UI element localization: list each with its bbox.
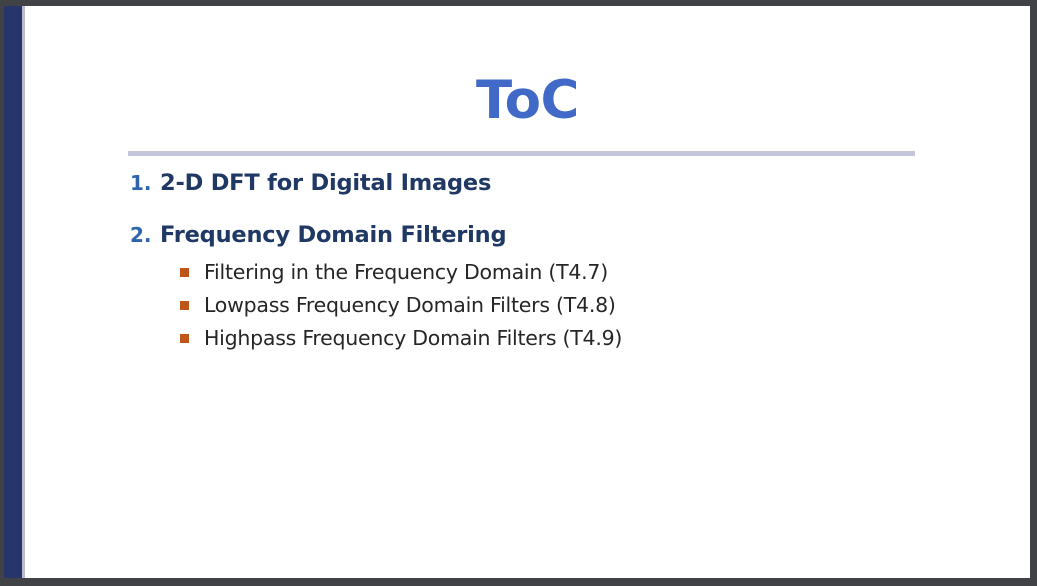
slide-content-area: ToC 1. 2-D DFT for Digital Images 2. Fre… [25,6,1030,578]
toc-number-1: 1. [130,171,160,197]
toc-heading-label-2: Frequency Domain Filtering [160,221,506,250]
toc-number-2: 2. [130,223,160,249]
slide-border-bottom [0,578,1037,586]
list-item[interactable]: Lowpass Frequency Domain Filters (T4.8) [25,289,1030,322]
square-bullet-icon [180,301,189,310]
square-bullet-icon [180,334,189,343]
toc-sublist-2: Filtering in the Frequency Domain (T4.7)… [25,256,1030,355]
list-item-label: Lowpass Frequency Domain Filters (T4.8) [204,293,616,317]
list-item[interactable]: Highpass Frequency Domain Filters (T4.9) [25,322,1030,355]
page-title: ToC [25,74,1030,127]
sidebar-accent-bar [4,6,22,578]
list-item[interactable]: Filtering in the Frequency Domain (T4.7) [25,256,1030,289]
slide-frame: ToC 1. 2-D DFT for Digital Images 2. Fre… [0,0,1037,586]
toc-heading-label-1: 2-D DFT for Digital Images [160,169,491,198]
slide-border-right [1030,0,1037,586]
square-bullet-icon [180,268,189,277]
toc-list: 1. 2-D DFT for Digital Images 2. Frequen… [25,169,1030,355]
title-divider-rule [128,151,915,156]
toc-section-2: 2. Frequency Domain Filtering Filtering … [25,221,1030,355]
list-item-label: Filtering in the Frequency Domain (T4.7) [204,260,608,284]
toc-section-1: 1. 2-D DFT for Digital Images [25,169,1030,198]
list-item-label: Highpass Frequency Domain Filters (T4.9) [204,326,622,350]
toc-heading-1[interactable]: 1. 2-D DFT for Digital Images [25,169,1030,198]
toc-heading-2[interactable]: 2. Frequency Domain Filtering [25,221,1030,250]
